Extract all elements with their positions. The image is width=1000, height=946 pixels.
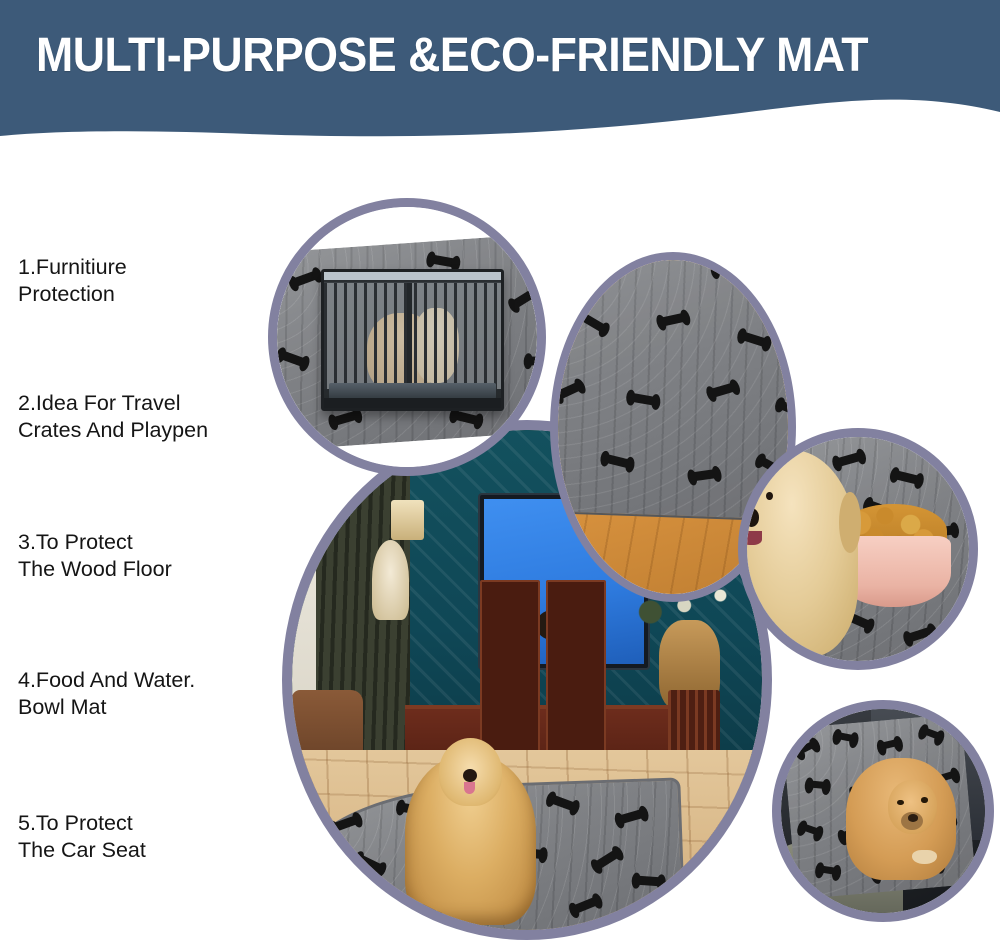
vignette-crate-on-mat [268, 198, 546, 476]
bordeaux-puppy [846, 758, 956, 880]
golden-retriever [405, 755, 537, 925]
vignette-car-seat-mat [772, 700, 994, 922]
dog-crate [321, 269, 504, 410]
vignette-food-bowl-mat [738, 428, 978, 670]
car-seat-photo [781, 709, 985, 913]
crate-photo [277, 207, 537, 467]
infographic-page: MULTI-PURPOSE &ECO-FRIENDLY MAT 1.Furnit… [0, 0, 1000, 946]
food-bowl-photo [747, 437, 969, 661]
photo-collage [0, 0, 1000, 946]
